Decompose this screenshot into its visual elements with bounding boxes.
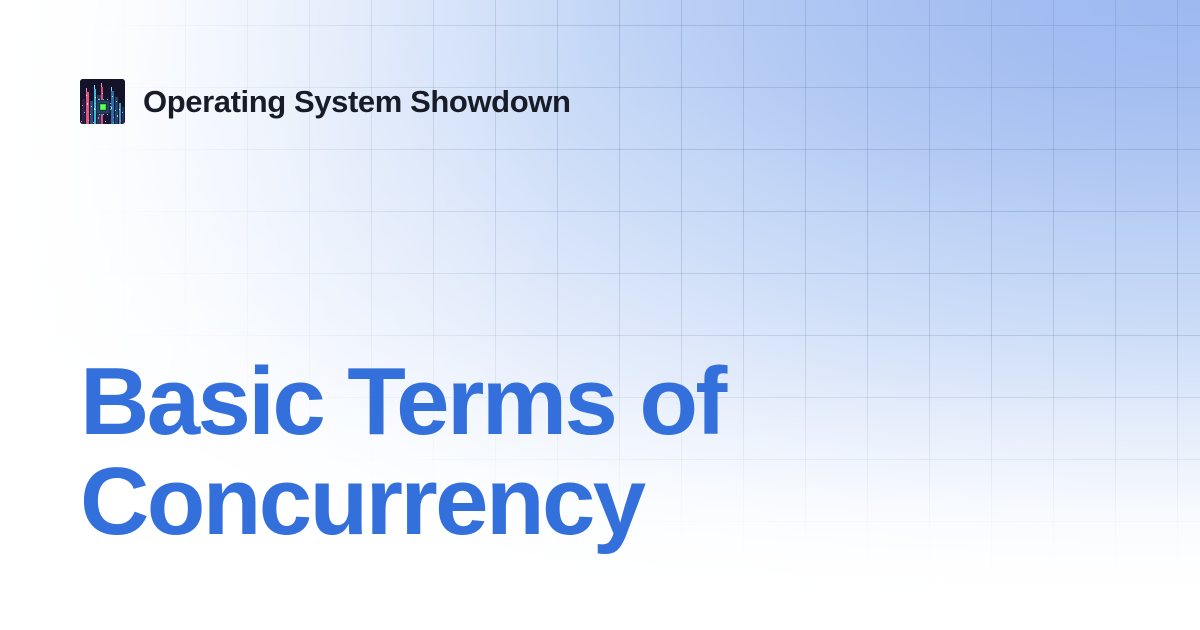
pixel-city-cpu-icon [80, 79, 125, 124]
slide-canvas: Operating System Showdown Basic Terms of… [0, 0, 1200, 630]
brand-header: Operating System Showdown [80, 79, 571, 124]
page-title: Basic Terms of Concurrency [80, 352, 980, 552]
brand-name: Operating System Showdown [143, 86, 571, 117]
hero-title-block: Basic Terms of Concurrency [80, 352, 980, 552]
